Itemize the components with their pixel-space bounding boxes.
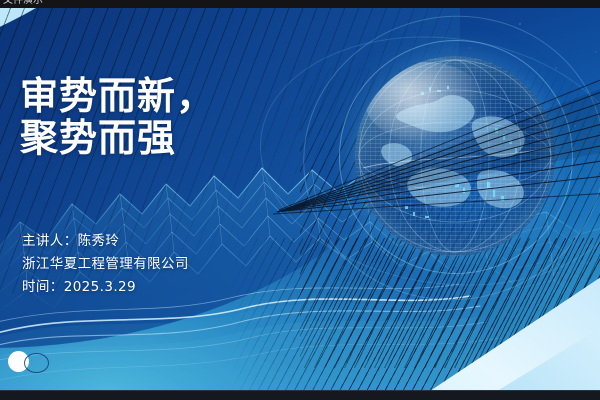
window-title: 文件演示 xyxy=(3,0,43,6)
slide-headline: 审势而新， 聚势而强 xyxy=(20,75,215,159)
window-titlebar: 文件演示 xyxy=(0,0,600,8)
window-bottombar xyxy=(0,390,600,400)
dot-outline-ring xyxy=(24,353,49,373)
slide-meta-block: 主讲人：陈秀玲 浙江华夏工程管理有限公司 时间：2025.3.29 xyxy=(22,230,189,299)
digital-globe xyxy=(355,56,555,256)
meta-organization: 浙江华夏工程管理有限公司 xyxy=(22,253,189,276)
headline-line-2: 聚势而强 xyxy=(20,117,215,159)
presentation-window: 文件演示 xyxy=(0,0,600,400)
meta-speaker: 主讲人：陈秀玲 xyxy=(22,230,189,253)
dot-mark-decoration xyxy=(8,351,52,373)
meta-date: 时间：2025.3.29 xyxy=(22,276,189,299)
slide-canvas: 审势而新， 聚势而强 主讲人：陈秀玲 浙江华夏工程管理有限公司 时间：2025.… xyxy=(0,8,600,391)
headline-line-1: 审势而新， xyxy=(20,75,215,117)
converging-beam-lines xyxy=(235,16,600,316)
